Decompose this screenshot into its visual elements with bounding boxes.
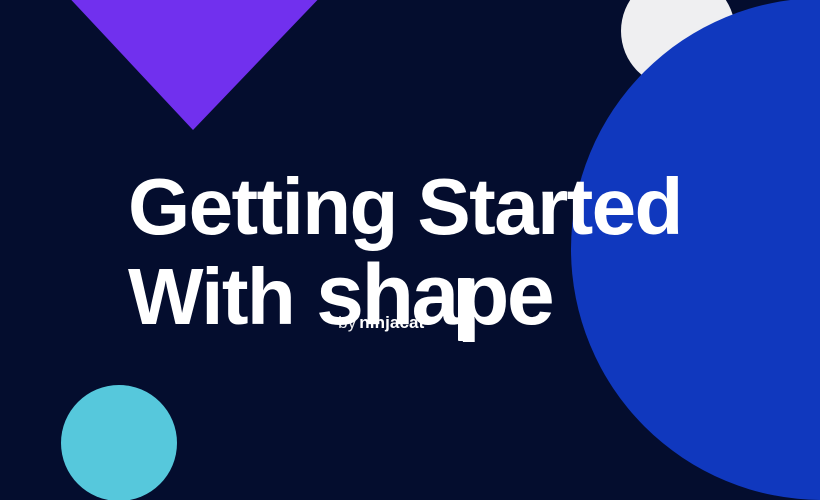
headline-line-1: Getting Started xyxy=(128,163,768,251)
tagline-brand-name: ninjacat xyxy=(359,313,424,332)
slide-content: Getting Started With shape byninjacat xyxy=(0,0,820,500)
title-slide: Getting Started With shape byninjacat xyxy=(0,0,820,500)
page-title: Getting Started With shape byninjacat xyxy=(128,163,768,339)
shape-tagline: byninjacat xyxy=(338,313,424,332)
tagline-by-label: by xyxy=(338,313,356,332)
shape-logo-stem xyxy=(458,278,471,341)
headline-line-2-prefix: With xyxy=(128,253,294,341)
shape-logo: shape byninjacat xyxy=(316,251,552,339)
headline-line-2: With shape byninjacat xyxy=(128,251,768,339)
